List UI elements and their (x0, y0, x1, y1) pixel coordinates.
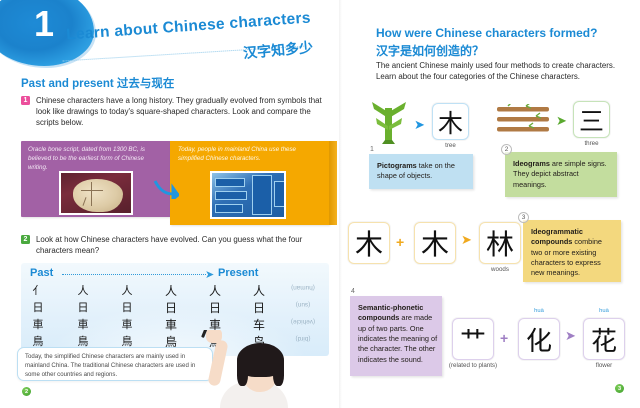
item-number-1: 1 (21, 96, 30, 105)
char-box-three: 三 (573, 101, 610, 138)
bone-crack-2 (81, 190, 103, 191)
arrow-icon-semantic: ➤ (565, 328, 576, 344)
table-row: 日 (204, 299, 226, 316)
sign-plate-3 (215, 204, 243, 213)
sticky-note-ideograms: Ideograms are simple signs. They depict … (505, 152, 617, 197)
item2-text: Look at how Chinese characters have evol… (36, 234, 324, 256)
table-row-label-human: (human) (283, 284, 323, 291)
caption-three: three (573, 140, 610, 147)
plus-icon-compound: + (396, 234, 404, 250)
unit-number: 1 (34, 6, 54, 42)
oracle-bone-shape (73, 179, 123, 212)
tree-drawing-icon (368, 100, 410, 151)
table-row: ⼈ (72, 282, 94, 298)
sticky-note-ideogrammatic: Ideogrammatic compounds combine two or m… (523, 220, 621, 282)
simplified-characters-card: Today, people in mainland China use thes… (170, 141, 329, 225)
table-row: 日 (27, 299, 49, 315)
table-row: 人 (204, 282, 226, 299)
sticky-text-pictograms: Pictograms take on the shape of objects. (377, 161, 469, 182)
sticky-text-semantic-phonetic: Semantic-phonetic compounds are made up … (358, 303, 438, 365)
simplified-characters-caption: Today, people in mainland China use thes… (178, 146, 318, 164)
pinyin-hua-phonetic: huà (518, 308, 560, 314)
sticky-text-ideograms: Ideograms are simple signs. They depict … (513, 159, 611, 190)
caption-related-to-plants: (related to plants) (439, 362, 507, 369)
table-dotted-arrow-line (62, 274, 206, 275)
table-row: 日 (248, 299, 270, 316)
three-sticks-icon (496, 104, 550, 143)
street-signs-photo (210, 171, 286, 219)
oracle-bone-photo (59, 171, 133, 215)
sign-plate-4 (252, 175, 272, 215)
table-row: 日 (72, 299, 94, 315)
right-page-heading-chinese: 汉字是如何创造的？ (376, 42, 484, 59)
pinyin-flower: huà (583, 308, 625, 314)
table-row: 日 (160, 299, 182, 316)
bone-crack-1 (91, 182, 92, 206)
item-number-2: 2 (21, 235, 30, 244)
item1-text: Chinese characters have a long history. … (36, 95, 324, 129)
section-heading-past-present: Past and present 过去与现在 (21, 75, 174, 91)
sticky-note-pictograms: Pictograms take on the shape of objects. (369, 154, 473, 189)
table-row-label-sun: (sun) (283, 301, 323, 308)
oracle-bone-card: Oracle bone script, dated from 1300 BC, … (21, 141, 171, 217)
arrow-icon-pictogram: ➤ (414, 117, 425, 133)
girl-hair-side-right (273, 360, 284, 386)
char-box-grass-radical: 艹 (452, 318, 494, 360)
page-number-left: 2 (22, 387, 31, 396)
oracle-bone-caption: Oracle bone script, dated from 1300 BC, … (28, 146, 164, 172)
sign-plate-1 (215, 178, 245, 187)
table-header-past: Past (30, 267, 53, 279)
girl-hair-side-left (237, 360, 248, 386)
page-number-right: 3 (615, 384, 624, 393)
char-box-tree: 木 (432, 103, 469, 140)
caption-woods: woods (479, 266, 521, 273)
table-row: 人 (116, 282, 138, 298)
char-box-flower: 花 (583, 318, 625, 360)
table-row: 車 (116, 316, 138, 332)
table-row: 車 (72, 316, 94, 332)
sign-plate-5 (274, 181, 286, 207)
plus-icon-semantic: + (500, 330, 508, 346)
char-box-tree-part1: 木 (348, 222, 390, 264)
table-row: 人 (248, 282, 270, 299)
sticky-text-ideogrammatic: Ideogrammatic compounds combine two or m… (531, 227, 615, 279)
table-row: 車 (160, 316, 182, 333)
table-row: 亻 (27, 282, 49, 298)
textbook-spread: 1 Learn about Chinese characters 汉字知多少 P… (0, 0, 640, 408)
category-number-4: 4 (351, 288, 355, 295)
girl-arm (207, 339, 228, 386)
char-box-hua-phonetic: 化 (518, 318, 560, 360)
term-pictograms: Pictograms (377, 161, 417, 170)
note-text: Today, the simplified Chinese characters… (25, 353, 207, 379)
category-number-2: 2 (501, 144, 512, 155)
char-box-tree-part2: 木 (414, 222, 456, 264)
girl-writing-photo (196, 330, 326, 408)
arrow-icon-ideogram: ➤ (556, 113, 567, 129)
caption-flower: flower (583, 362, 625, 369)
category-number-3: 3 (518, 212, 529, 223)
table-header-present: Present (218, 267, 258, 279)
table-row-label-vehicle: (vehicle) (283, 318, 323, 325)
caption-tree: tree (432, 142, 469, 149)
right-page-heading: How were Chinese characters formed? (376, 26, 597, 40)
term-ideograms: Ideograms (513, 159, 550, 168)
right-page-intro: The ancient Chinese mainly used four met… (376, 60, 624, 83)
book-spine (339, 0, 342, 408)
sticky-note-semantic-phonetic: Semantic-phonetic compounds are made up … (350, 296, 442, 376)
char-box-woods: 林 (479, 222, 521, 264)
table-arrow-icon: ➤ (205, 268, 214, 281)
transition-arrow-icon (153, 177, 179, 199)
arrow-icon-compound: ➤ (461, 232, 472, 248)
table-row: 日 (116, 299, 138, 315)
table-row: 車 (27, 316, 49, 332)
table-row: 人 (160, 282, 182, 299)
simplified-vs-traditional-note: Today, the simplified Chinese characters… (17, 347, 213, 381)
category-number-1: 1 (370, 146, 374, 153)
sign-plate-2 (215, 191, 247, 200)
